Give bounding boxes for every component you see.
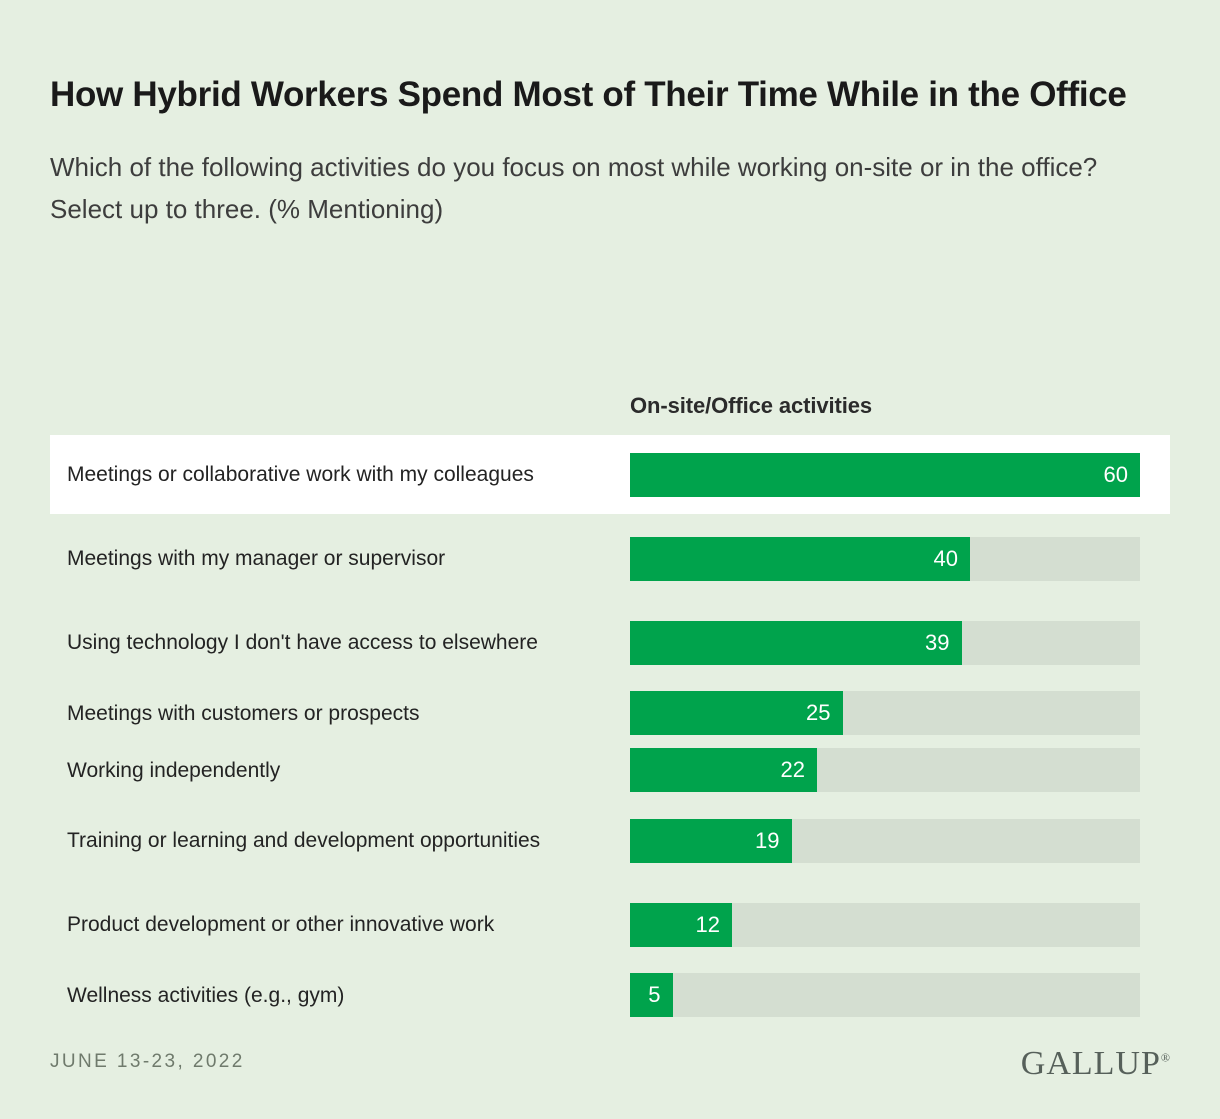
table-row[interactable]: Meetings with customers or prospects25 [50, 687, 1170, 739]
row-label: Working independently [50, 757, 630, 785]
table-row[interactable]: Using technology I don't have access to … [50, 603, 1170, 682]
bar-value-label: 19 [755, 830, 779, 852]
bar-area: 39 [630, 621, 1170, 665]
bar-track [630, 973, 1140, 1017]
bar-value-label: 39 [925, 632, 949, 654]
table-row[interactable]: Wellness activities (e.g., gym)5 [50, 969, 1170, 1021]
bar[interactable]: 22 [630, 748, 817, 792]
table-row[interactable]: Meetings with my manager or supervisor40 [50, 519, 1170, 598]
bar-area: 12 [630, 903, 1170, 947]
bar-area: 40 [630, 537, 1170, 581]
bar-area: 60 [630, 453, 1170, 497]
bar-chart: On-site/Office activities Meetings or co… [50, 387, 1170, 1026]
row-label: Using technology I don't have access to … [50, 629, 630, 657]
chart-subtitle: Which of the following activities do you… [50, 146, 1160, 230]
page-title: How Hybrid Workers Spend Most of Their T… [50, 23, 1170, 118]
chart-page: How Hybrid Workers Spend Most of Their T… [0, 23, 1220, 1119]
table-row[interactable]: Meetings or collaborative work with my c… [50, 435, 1170, 514]
bar-area: 5 [630, 973, 1170, 1017]
bar[interactable]: 25 [630, 691, 843, 735]
row-label: Meetings or collaborative work with my c… [50, 461, 630, 489]
bar[interactable]: 19 [630, 819, 792, 863]
gallup-wordmark: GALLUP [1021, 1045, 1161, 1082]
bar[interactable]: 5 [630, 973, 673, 1017]
bar-value-label: 22 [781, 759, 805, 781]
row-label: Product development or other innovative … [50, 911, 630, 939]
bar-value-label: 5 [648, 984, 660, 1006]
bar[interactable]: 12 [630, 903, 732, 947]
table-row[interactable]: Training or learning and development opp… [50, 801, 1170, 880]
chart-rows: Meetings or collaborative work with my c… [50, 435, 1170, 1021]
series-column-header: On-site/Office activities [630, 393, 872, 419]
bar-value-label: 12 [696, 914, 720, 936]
survey-date: JUNE 13-23, 2022 [50, 1051, 245, 1073]
bar[interactable]: 60 [630, 453, 1140, 497]
table-row[interactable]: Product development or other innovative … [50, 885, 1170, 964]
bar-value-label: 40 [934, 548, 958, 570]
bar[interactable]: 40 [630, 537, 970, 581]
row-label: Training or learning and development opp… [50, 827, 630, 855]
bar-area: 25 [630, 691, 1170, 735]
row-label: Meetings with my manager or supervisor [50, 545, 630, 573]
bar-area: 19 [630, 819, 1170, 863]
bar-value-label: 60 [1104, 464, 1128, 486]
bar[interactable]: 39 [630, 621, 962, 665]
chart-header-row: On-site/Office activities [50, 387, 1170, 435]
table-row[interactable]: Working independently22 [50, 744, 1170, 796]
gallup-logo: GALLUP® [1021, 1047, 1170, 1081]
bar-area: 22 [630, 748, 1170, 792]
row-label: Meetings with customers or prospects [50, 700, 630, 728]
row-label: Wellness activities (e.g., gym) [50, 982, 630, 1010]
chart-footer: JUNE 13-23, 2022 GALLUP® [50, 1047, 1170, 1081]
registered-trademark-icon: ® [1161, 1051, 1170, 1065]
bar-value-label: 25 [806, 702, 830, 724]
